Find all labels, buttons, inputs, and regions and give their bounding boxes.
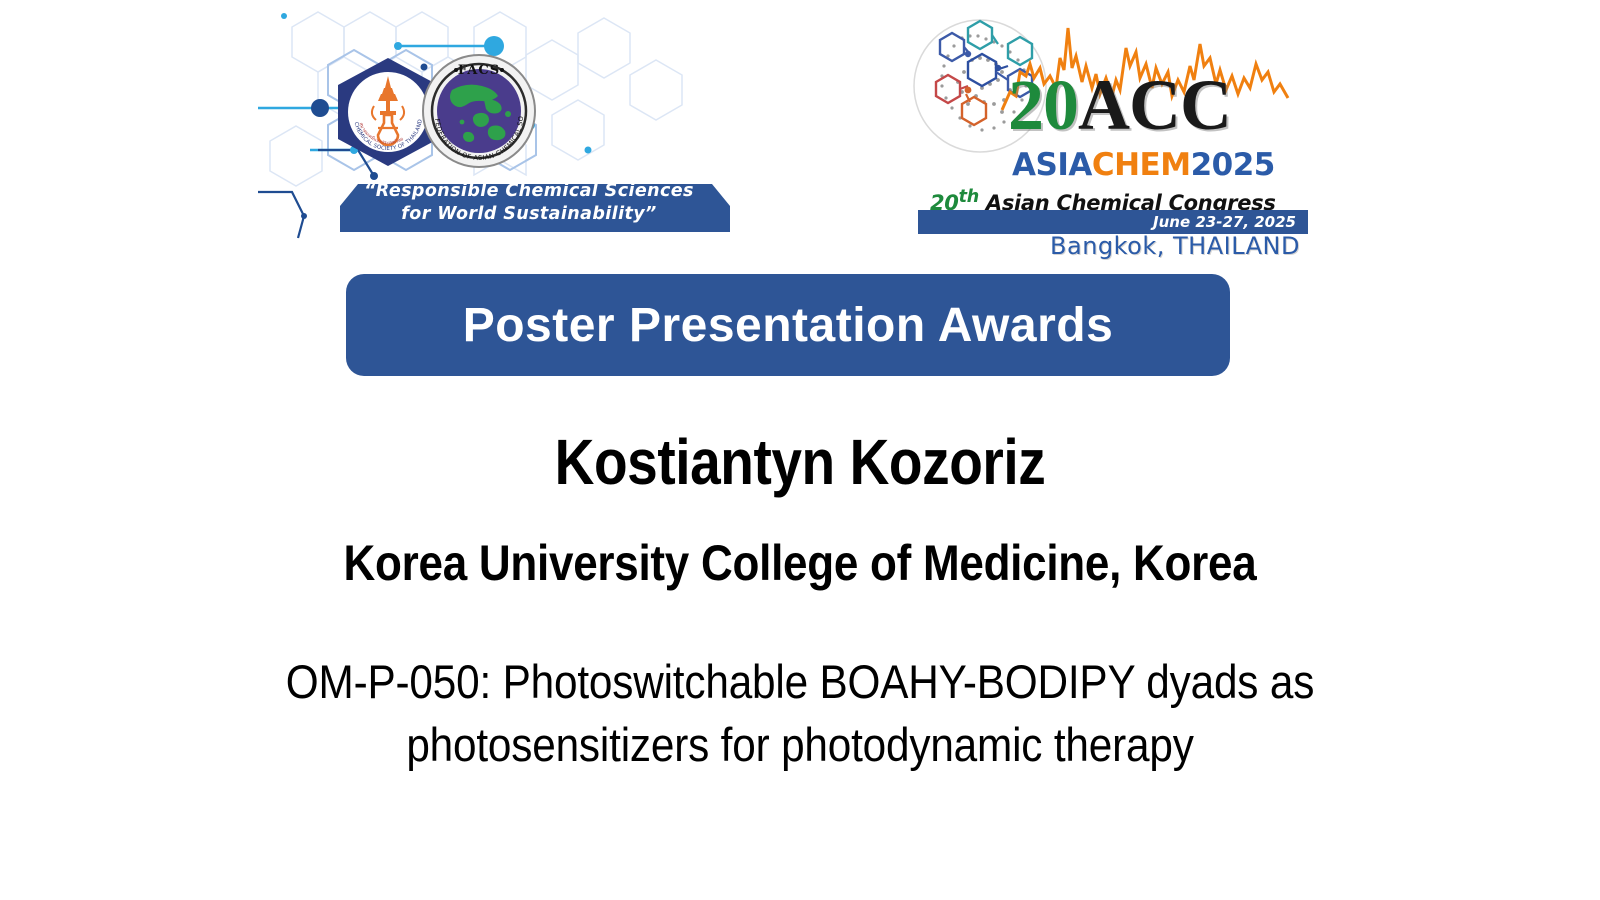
asiachem-year: 2025 <box>1191 147 1275 183</box>
thailand-facs-logo-lockup: CHEMICAL SOCIETY OF THAILAND สมาคมเคมีแห… <box>258 0 728 245</box>
acc-wordmark: 20ACC <box>1008 68 1298 142</box>
poster-title: OM-P-050: Photoswitchable BOAHY-BODIPY d… <box>188 650 1412 776</box>
congress-subtitle: 20th Asian Chemical Congress <box>930 184 1308 210</box>
acc-acronym: ACC <box>1078 65 1231 145</box>
facs-globe-logo-icon: FACS FEDERATION OF ASIAN CHEMICAL SOCIET… <box>422 54 536 168</box>
svg-text:FACS: FACS <box>458 63 500 78</box>
banner-title: Poster Presentation Awards <box>346 274 1230 376</box>
poster-presentation-awards-banner: Poster Presentation Awards <box>346 274 1230 376</box>
congress-city: Bangkok, THAILAND <box>918 232 1300 260</box>
asiachem-chem: CHEM <box>1092 147 1191 183</box>
tagline-text: “Responsible Chemical Sciences for World… <box>354 180 704 226</box>
acc-number: 20 <box>1008 65 1078 145</box>
congress-dates: June 23-27, 2025 <box>918 211 1296 233</box>
asiachem-asia: ASIA <box>1012 147 1092 183</box>
presenter-affiliation: Korea University College of Medicine, Ko… <box>96 532 1504 594</box>
asiachem-wordmark: ASIACHEM2025 <box>1012 148 1304 182</box>
congress-ordinal-suffix: th <box>959 187 979 207</box>
header: CHEMICAL SOCIETY OF THAILAND สมาคมเคมีแห… <box>0 0 1600 260</box>
asiachem-2025-logo-lockup: 20ACC ASIACHEM2025 20th Asian Chemical C… <box>900 8 1300 256</box>
presenter-name: Kostiantyn Kozoriz <box>112 424 1488 500</box>
